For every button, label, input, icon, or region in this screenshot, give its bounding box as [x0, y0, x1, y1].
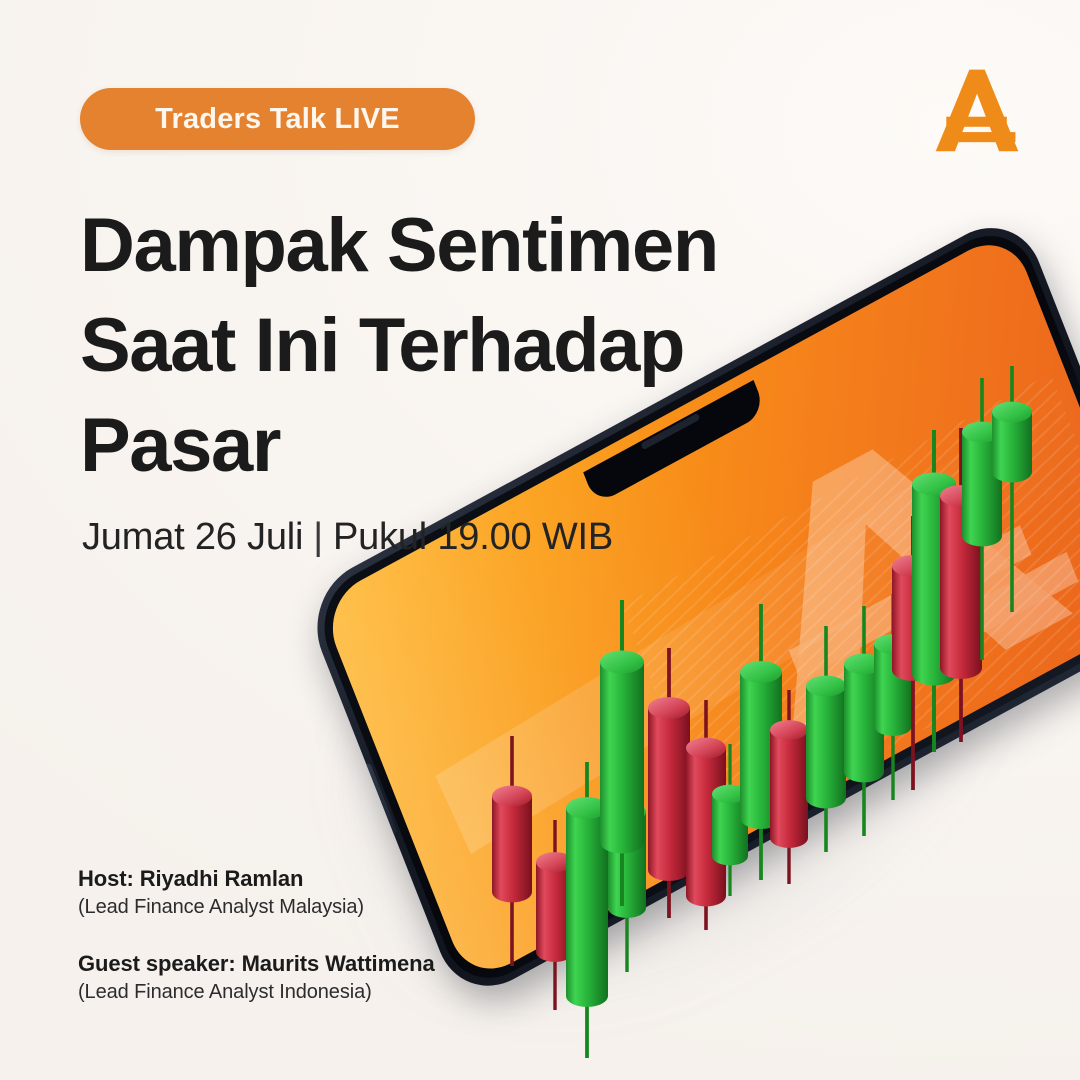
page-title: Dampak Sentimen Saat Ini Terhadap Pasar [80, 196, 820, 496]
schedule-time: Pukul 19.00 WIB [333, 516, 613, 558]
logo-a-mark-icon [930, 62, 1026, 158]
host-name: Host: Riyadhi Ramlan [78, 866, 435, 892]
headline-line-3: Pasar [80, 396, 820, 496]
guest-role: (Lead Finance Analyst Indonesia) [78, 981, 435, 1004]
candle-11 [806, 626, 846, 852]
live-badge-label: Traders Talk LIVE [121, 103, 434, 136]
schedule-line: Jumat 26 Juli|Pukul 19.00 WIB [82, 516, 613, 559]
guest-name: Guest speaker: Maurits Wattimena [78, 951, 435, 977]
schedule-date: Jumat 26 Juli [82, 516, 303, 558]
headline-line-2: Saat Ini Terhadap [80, 296, 820, 396]
poster-canvas: Traders Talk LIVE Dampak Sentimen Saat I… [0, 0, 1080, 1080]
live-badge[interactable]: Traders Talk LIVE [80, 88, 475, 150]
headline-line-1: Dampak Sentimen [80, 196, 820, 296]
credits-block: Host: Riyadhi Ramlan (Lead Finance Analy… [78, 866, 435, 1004]
candle-1 [492, 736, 532, 966]
credits-spacer [78, 919, 435, 951]
host-role: (Lead Finance Analyst Malaysia) [78, 896, 435, 919]
candle-6 [648, 648, 690, 918]
schedule-separator: | [303, 516, 333, 558]
